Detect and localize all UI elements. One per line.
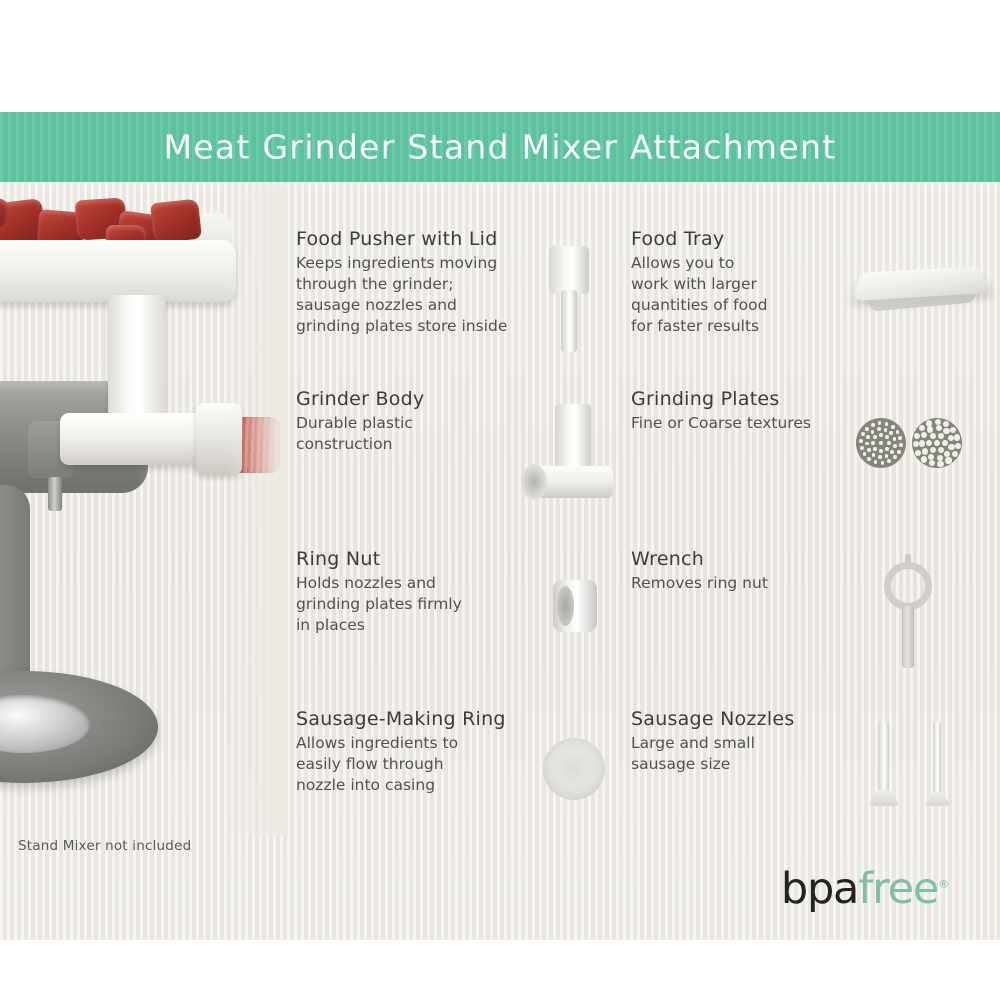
feature-description: Allows you to work with larger quantitie… [631,253,848,337]
food-pusher-icon [519,228,631,358]
feature-description: Holds nozzles and grinding plates firmly… [296,573,513,636]
feature-description: Keeps ingredients moving through the gri… [296,253,513,337]
grinding-plates-icon [854,388,966,518]
feature-title: Grinding Plates [631,388,848,410]
feature-row: Sausage-Making Ring Allows ingredients t… [296,708,986,856]
feature-description: Allows ingredients to easily flow throug… [296,733,513,796]
feature-title: Sausage Nozzles [631,708,848,730]
feature-desc-line: through the grinder; [296,274,513,295]
fine-grinding-plate-icon [856,418,906,468]
stand-mixer-shaft [48,477,62,511]
feature-desc-line: sausage size [631,754,848,775]
page-title: Meat Grinder Stand Mixer Attachment [0,128,1000,167]
feature-sausage-nozzles: Sausage Nozzles Large and small sausage … [631,708,966,856]
feature-desc-line: Removes ring nut [631,573,848,594]
feature-desc-line: grinding plates store inside [296,316,513,337]
feature-desc-line: Holds nozzles and [296,573,513,594]
sausage-making-ring-icon [519,708,631,838]
feature-desc-line: for faster results [631,316,848,337]
feature-title: Wrench [631,548,848,570]
grinder-body-icon [519,388,631,518]
feature-title: Grinder Body [296,388,513,410]
feature-desc-line: work with larger [631,274,848,295]
feature-list: Food Pusher with Lid Keeps ingredients m… [296,228,986,868]
bpa-free-logo: bpafree® [781,868,948,911]
feature-desc-line: Fine or Coarse textures [631,413,848,434]
feature-desc-line: Durable plastic [296,413,513,434]
feature-ring-nut: Ring Nut Holds nozzles and grinding plat… [296,548,631,696]
food-tray-icon [854,228,966,358]
ring-nut-icon [519,548,631,678]
sausage-nozzles-icon [854,708,966,838]
feature-food-pusher-with-lid: Food Pusher with Lid Keeps ingredients m… [296,228,631,376]
photo-edge-fade [226,185,288,835]
disclaimer-text: Stand Mixer not included [18,838,191,854]
header-band: Meat Grinder Stand Mixer Attachment [0,112,1000,182]
feature-title: Sausage-Making Ring [296,708,513,730]
feature-title: Ring Nut [296,548,513,570]
feature-desc-line: Allows you to [631,253,848,274]
feature-description: Fine or Coarse textures [631,413,848,434]
feature-desc-line: Large and small [631,733,848,754]
feature-desc-line: in places [296,615,513,636]
feature-grinding-plates: Grinding Plates Fine or Coarse textures [631,388,966,536]
feature-wrench: Wrench Removes ring nut [631,548,966,696]
feature-desc-line: quantities of food [631,295,848,316]
feature-description: Large and small sausage size [631,733,848,775]
feature-grinder-body: Grinder Body Durable plastic constructio… [296,388,631,536]
feature-row: Ring Nut Holds nozzles and grinding plat… [296,548,986,696]
wrench-icon [854,548,966,678]
feature-desc-line: sausage nozzles and [296,295,513,316]
feature-title: Food Tray [631,228,848,250]
feature-desc-line: Keeps ingredients moving [296,253,513,274]
feature-desc-line: grinding plates firmly [296,594,513,615]
feature-food-tray: Food Tray Allows you to work with larger… [631,228,966,376]
product-package-panel: Meat Grinder Stand Mixer Attachment [0,0,1000,1000]
feature-row: Grinder Body Durable plastic constructio… [296,388,986,536]
photo-food-tray [0,240,236,302]
feature-desc-line: easily flow through [296,754,513,775]
coarse-grinding-plate-icon [912,418,962,468]
registered-mark: ® [938,878,948,891]
photo-grinder-neck [108,295,166,421]
free-logo-text: free [858,864,938,914]
feature-row: Food Pusher with Lid Keeps ingredients m… [296,228,986,376]
feature-desc-line: Allows ingredients to [296,733,513,754]
feature-sausage-making-ring: Sausage-Making Ring Allows ingredients t… [296,708,631,856]
feature-desc-line: nozzle into casing [296,775,513,796]
feature-description: Durable plastic construction [296,413,513,455]
feature-desc-line: construction [296,434,513,455]
feature-title: Food Pusher with Lid [296,228,513,250]
bpa-logo-text: bpa [781,864,858,914]
feature-description: Removes ring nut [631,573,848,594]
product-photo [0,185,288,835]
